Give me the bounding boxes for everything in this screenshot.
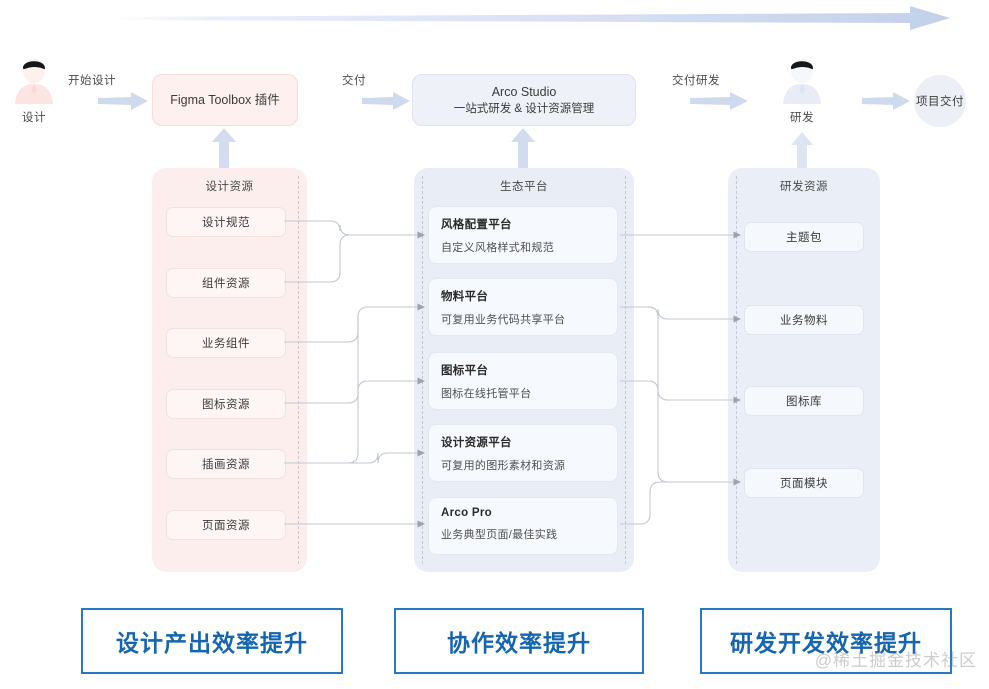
banner-design-efficiency[interactable]: 设计产出效率提升 <box>81 608 343 674</box>
chip-icon-library-label: 图标库 <box>786 393 822 409</box>
chip-page-resource-label: 页面资源 <box>202 517 250 533</box>
panel-rnd-dashed-edge <box>736 176 737 564</box>
up-arrow-to-developer-icon <box>791 132 813 168</box>
chip-illustration-resource[interactable]: 插画资源 <box>166 449 286 479</box>
up-arrow-to-figma-icon <box>212 128 236 168</box>
chip-icon-resource[interactable]: 图标资源 <box>166 389 286 419</box>
card-material-sub: 可复用业务代码共享平台 <box>441 311 605 327</box>
card-material-platform[interactable]: 物料平台 可复用业务代码共享平台 <box>428 278 618 336</box>
card-design-resource-sub: 可复用的图形素材和资源 <box>441 457 605 473</box>
arco-studio-subtitle: 一站式研发 & 设计资源管理 <box>454 101 595 118</box>
card-icon-sub: 图标在线托管平台 <box>441 385 605 401</box>
flow-label-start-design: 开始设计 <box>68 72 116 88</box>
chip-component-resource[interactable]: 组件资源 <box>166 268 286 298</box>
card-style-config-platform[interactable]: 风格配置平台 自定义风格样式和规范 <box>428 206 618 264</box>
chip-illustration-resource-label: 插画资源 <box>202 456 250 472</box>
watermark: @稀土掘金技术社区 <box>815 646 977 671</box>
panel-ecosystem-dashed-right <box>625 176 626 564</box>
up-arrow-to-arco-icon <box>511 128 535 168</box>
persona-designer: 设计 <box>0 54 68 125</box>
chip-icon-resource-label: 图标资源 <box>202 396 250 412</box>
persona-developer-label: 研发 <box>768 109 836 125</box>
chip-page-module[interactable]: 页面模块 <box>744 468 864 498</box>
chip-design-spec[interactable]: 设计规范 <box>166 207 286 237</box>
avatar-developer-icon <box>776 54 828 106</box>
card-icon-title: 图标平台 <box>441 362 605 378</box>
panel-design-resources-title: 设计资源 <box>152 178 307 194</box>
card-arco-pro-title: Arco Pro <box>441 507 605 519</box>
chip-icon-library[interactable]: 图标库 <box>744 386 864 416</box>
card-style-config-title: 风格配置平台 <box>441 216 605 232</box>
panel-design-dashed-edge <box>298 176 299 564</box>
figma-toolbox-title: Figma Toolbox 插件 <box>170 91 280 109</box>
diagram-canvas: 设计 开始设计 Figma Toolbox 插件 交付 Arco Studio … <box>0 0 989 689</box>
chip-page-resource[interactable]: 页面资源 <box>166 510 286 540</box>
chip-page-module-label: 页面模块 <box>780 475 828 491</box>
avatar-designer-icon <box>8 54 60 106</box>
chip-component-resource-label: 组件资源 <box>202 275 250 291</box>
banner-collaboration-efficiency[interactable]: 协作效率提升 <box>394 608 644 674</box>
banner-collaboration-efficiency-label: 协作效率提升 <box>447 624 591 658</box>
flow-label-deliver-rnd: 交付研发 <box>672 72 720 88</box>
arco-studio-box[interactable]: Arco Studio 一站式研发 & 设计资源管理 <box>412 74 636 126</box>
panel-ecosystem-title: 生态平台 <box>414 178 634 194</box>
project-delivery-label: 项目交付 <box>916 93 964 109</box>
persona-developer: 研发 <box>768 54 836 125</box>
card-icon-platform[interactable]: 图标平台 图标在线托管平台 <box>428 352 618 410</box>
chip-design-spec-label: 设计规范 <box>202 214 250 230</box>
card-arco-pro-sub: 业务典型页面/最佳实践 <box>441 526 605 542</box>
chip-business-component[interactable]: 业务组件 <box>166 328 286 358</box>
top-sweep-arrow <box>110 4 950 32</box>
figma-toolbox-box[interactable]: Figma Toolbox 插件 <box>152 74 298 126</box>
project-delivery-circle[interactable]: 项目交付 <box>914 75 966 127</box>
flow-arrow-4-icon <box>862 92 910 110</box>
card-design-resource-title: 设计资源平台 <box>441 434 605 450</box>
chip-business-component-label: 业务组件 <box>202 335 250 351</box>
card-style-config-sub: 自定义风格样式和规范 <box>441 239 605 255</box>
chip-theme-package[interactable]: 主题包 <box>744 222 864 252</box>
card-material-title: 物料平台 <box>441 288 605 304</box>
chip-business-material[interactable]: 业务物料 <box>744 305 864 335</box>
chip-business-material-label: 业务物料 <box>780 312 828 328</box>
flow-arrow-3-icon <box>690 92 748 110</box>
panel-rnd-title: 研发资源 <box>728 178 880 194</box>
arco-studio-title: Arco Studio <box>492 83 557 101</box>
panel-ecosystem-dashed-left <box>422 176 423 564</box>
persona-designer-label: 设计 <box>0 109 68 125</box>
card-design-resource-platform[interactable]: 设计资源平台 可复用的图形素材和资源 <box>428 424 618 482</box>
banner-design-efficiency-label: 设计产出效率提升 <box>116 624 308 658</box>
chip-theme-package-label: 主题包 <box>786 229 822 245</box>
flow-arrow-2-icon <box>362 92 410 110</box>
card-arco-pro[interactable]: Arco Pro 业务典型页面/最佳实践 <box>428 497 618 555</box>
flow-arrow-1-icon <box>98 92 148 110</box>
flow-label-deliver: 交付 <box>342 72 366 88</box>
